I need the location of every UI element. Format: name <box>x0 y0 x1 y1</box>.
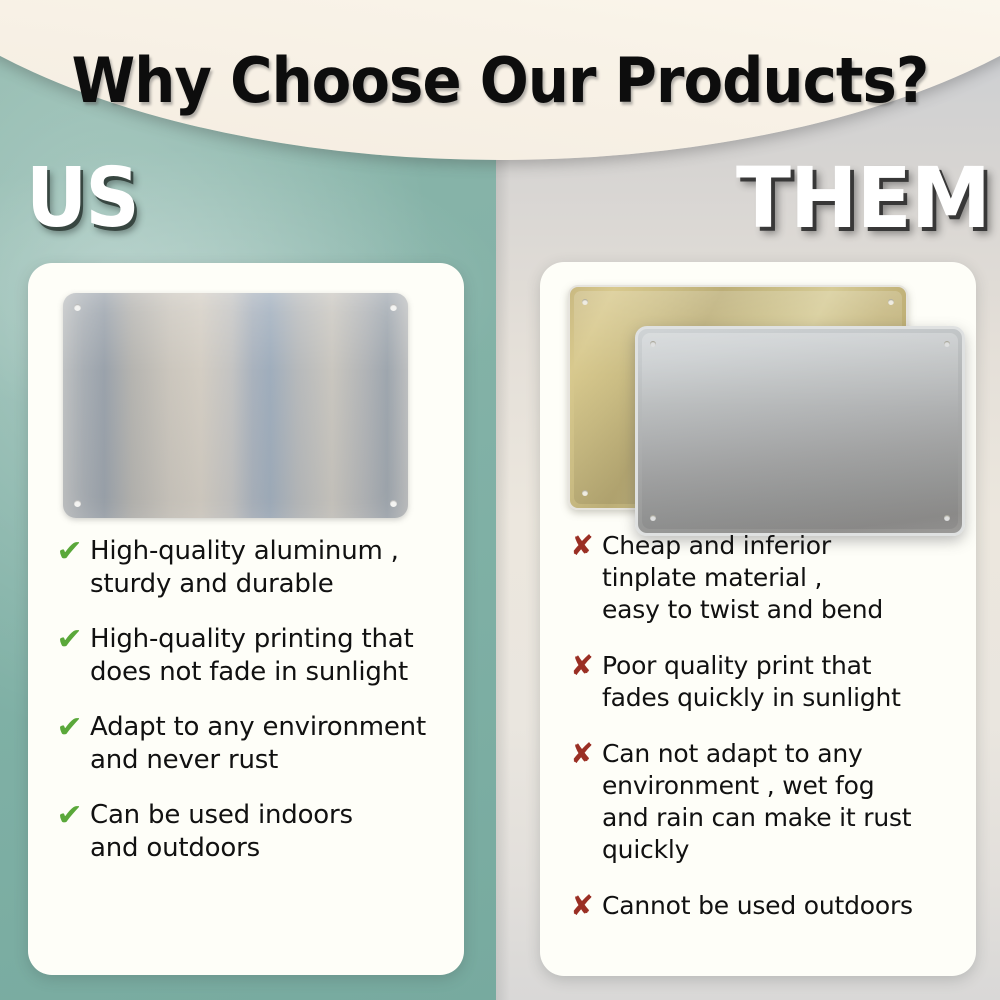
list-item: ✔ High-quality aluminum , sturdy and dur… <box>50 535 448 601</box>
x-mark-icon: ✘ <box>562 738 602 768</box>
check-icon: ✔ <box>50 535 90 567</box>
us-card: ✔ High-quality aluminum , sturdy and dur… <box>28 263 464 975</box>
list-item-label: Adapt to any environment and never rust <box>90 711 448 777</box>
check-icon: ✔ <box>50 623 90 655</box>
check-icon: ✔ <box>50 711 90 743</box>
list-item-label: Can be used indoors and outdoors <box>90 799 448 865</box>
check-icon: ✔ <box>50 799 90 831</box>
mounting-hole-icon <box>390 304 397 311</box>
mounting-hole-icon <box>650 341 656 347</box>
mounting-hole-icon <box>390 500 397 507</box>
list-item-label: Cheap and inferior tinplate material , e… <box>602 530 960 626</box>
mounting-hole-icon <box>582 490 588 496</box>
mounting-hole-icon <box>888 299 894 305</box>
list-item-label: High-quality printing that does not fade… <box>90 623 448 689</box>
mounting-hole-icon <box>582 299 588 305</box>
x-mark-icon: ✘ <box>562 890 602 920</box>
list-item: ✔ Adapt to any environment and never rus… <box>50 711 448 777</box>
x-mark-icon: ✘ <box>562 650 602 680</box>
us-feature-list: ✔ High-quality aluminum , sturdy and dur… <box>28 535 464 887</box>
comparison-infographic: Why Choose Our Products? US THEM ✔ High-… <box>0 0 1000 1000</box>
aluminum-sign-plate <box>63 293 408 518</box>
mounting-hole-icon <box>74 304 81 311</box>
list-item: ✔ Can be used indoors and outdoors <box>50 799 448 865</box>
list-item: ✘ Cannot be used outdoors <box>562 890 960 922</box>
list-item: ✘ Poor quality print that fades quickly … <box>562 650 960 714</box>
list-item: ✘ Cheap and inferior tinplate material ,… <box>562 530 960 626</box>
list-item: ✘ Can not adapt to any environment , wet… <box>562 738 960 866</box>
page-title: Why Choose Our Products? <box>35 44 965 117</box>
list-item-label: Poor quality print that fades quickly in… <box>602 650 960 714</box>
list-item-label: High-quality aluminum , sturdy and durab… <box>90 535 448 601</box>
them-product-image <box>540 262 976 524</box>
list-item: ✔ High-quality printing that does not fa… <box>50 623 448 689</box>
list-item-label: Can not adapt to any environment , wet f… <box>602 738 960 866</box>
column-label-them: THEM <box>736 156 990 240</box>
us-product-image <box>28 263 464 525</box>
mounting-hole-icon <box>944 341 950 347</box>
mounting-hole-icon <box>944 515 950 521</box>
list-item-label: Cannot be used outdoors <box>602 890 960 922</box>
silver-tinplate-sign <box>635 326 965 536</box>
them-card: ✘ Cheap and inferior tinplate material ,… <box>540 262 976 976</box>
mounting-hole-icon <box>74 500 81 507</box>
x-mark-icon: ✘ <box>562 530 602 560</box>
mounting-hole-icon <box>650 515 656 521</box>
them-feature-list: ✘ Cheap and inferior tinplate material ,… <box>540 530 976 946</box>
column-label-us: US <box>26 158 138 240</box>
